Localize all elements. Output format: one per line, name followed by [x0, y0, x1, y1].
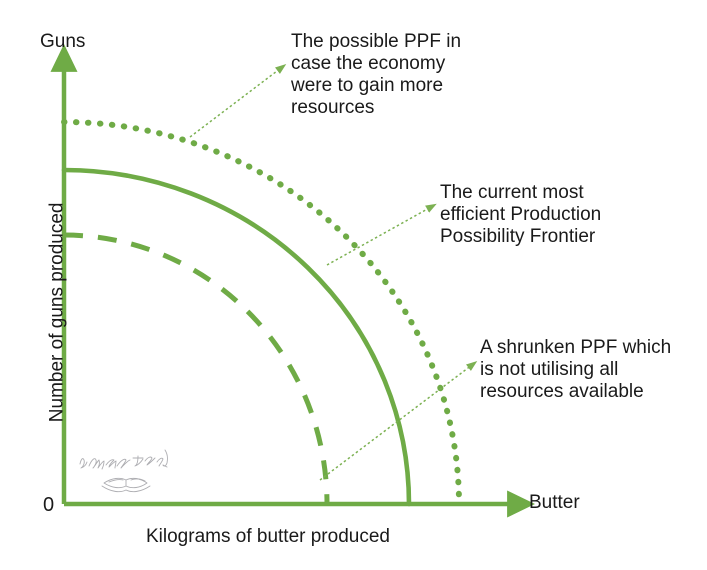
y-axis-tip-label: Guns — [40, 30, 85, 55]
annotation-expanded-ppf: The possible PPF in case the economy wer… — [291, 31, 506, 119]
author-watermark-icon — [76, 444, 184, 496]
y-axis-description: Number of guns produced — [46, 182, 71, 442]
x-axis-tip-label: Butter — [529, 491, 580, 516]
annotation-shrunken-line-2: is not utilising all — [480, 359, 695, 381]
annotation-shrunken-ppf: A shrunken PPF which is not utilising al… — [480, 337, 695, 403]
annotation-expanded-line-2: case the economy — [291, 53, 506, 75]
annotation-current-line-3: Possibility Frontier — [440, 226, 675, 248]
annotation-current-line-2: efficient Production — [440, 204, 675, 226]
annotation-expanded-line-4: resources — [291, 97, 506, 119]
origin-label: 0 — [43, 492, 54, 518]
ppf-diagram-canvas: Guns Butter 0 Kilograms of butter produc… — [0, 0, 707, 570]
leader-arrow-current — [327, 207, 431, 265]
annotation-expanded-line-1: The possible PPF in — [291, 31, 506, 53]
annotation-current-ppf: The current most efficient Production Po… — [440, 182, 675, 248]
leader-arrow-expanded — [190, 68, 281, 137]
annotation-current-line-1: The current most — [440, 182, 675, 204]
annotation-shrunken-line-1: A shrunken PPF which — [480, 337, 695, 359]
annotation-expanded-line-3: were to gain more — [291, 75, 506, 97]
annotation-shrunken-line-3: resources available — [480, 381, 695, 403]
x-axis-description: Kilograms of butter produced — [146, 525, 390, 550]
